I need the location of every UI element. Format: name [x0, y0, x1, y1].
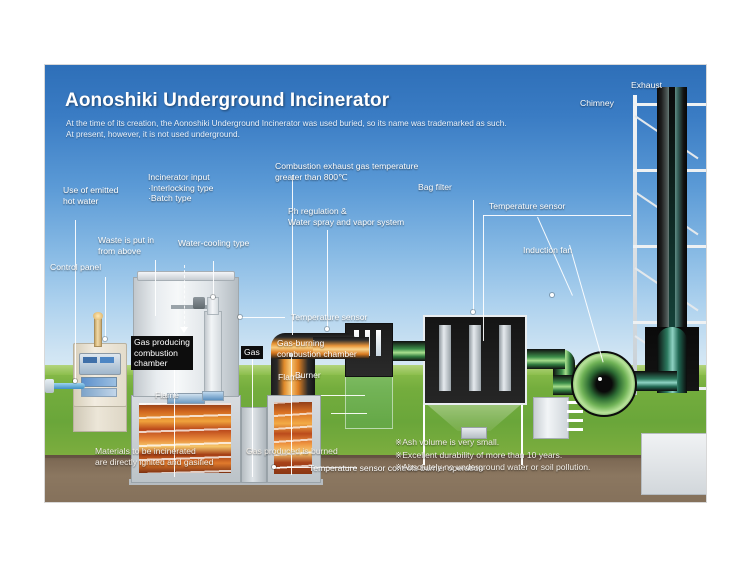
label-combustion-temp: Combustion exhaust gas temperature great…	[275, 161, 418, 182]
water-cooling-tower	[204, 311, 222, 399]
leader-dot	[598, 377, 602, 381]
footnote-bullet-2: ※Excellent durability of more than 10 ye…	[395, 450, 562, 460]
gas-transfer-column	[241, 407, 267, 483]
duct-spray-to-bagfilter	[389, 341, 425, 361]
label-gas-producing-chamber: Gas producing combustion chamber	[131, 336, 193, 370]
filter-bag	[499, 325, 511, 391]
label-induction-fan: Induction fan	[523, 245, 572, 256]
incinerator-carriage	[193, 297, 205, 309]
leader-temp-sensor-left	[241, 317, 285, 318]
leader-burner	[321, 395, 365, 396]
duct-bagfilter-to-fan	[523, 349, 565, 369]
leader-flame-left	[252, 351, 253, 477]
label-temp-sensor-left: Temperature sensor	[291, 312, 367, 323]
footnote-bullet-1: ※Ash volume is very small.	[395, 437, 499, 447]
control-panel-buttons	[81, 377, 117, 387]
subtitle-line-1: At the time of its creation, the Aonoshi…	[66, 119, 507, 128]
leader-arrow-down	[180, 327, 188, 333]
chimney-foundation	[641, 433, 706, 495]
spray-nozzle	[376, 330, 381, 356]
label-burner: Burner	[295, 370, 321, 381]
label-hot-water: Use of emitted hot water	[63, 185, 118, 206]
leader-waste	[155, 260, 156, 316]
hot-water-outlet-pipe	[49, 383, 85, 389]
bag-filter-vessel	[423, 315, 527, 405]
label-temp-sensor-right: Temperature sensor	[489, 201, 565, 212]
filter-bag	[469, 325, 481, 391]
leader-dot	[103, 337, 107, 341]
leader-incinerator-input	[184, 265, 185, 329]
filter-bag	[439, 325, 451, 391]
footnote-bullet-3: ※Absolutely no underground water or soil…	[395, 462, 590, 472]
fan-pedestal	[533, 397, 569, 439]
label-control-panel: Control panel	[50, 262, 101, 273]
leader-dot	[325, 327, 329, 331]
subtitle-line-2: At present, however, it is not used unde…	[66, 130, 240, 139]
label-gas-burning-chamber: Gas-burning combustion chamber	[277, 338, 357, 359]
label-flame-left: Flame	[155, 390, 179, 401]
label-water-cooling: Water-cooling type	[178, 238, 249, 249]
leader-dot	[238, 315, 242, 319]
leader-gas-burning	[331, 413, 367, 414]
label-waste-put-in: Waste is put in from above	[98, 235, 154, 256]
signal-tower-light	[94, 317, 102, 347]
chimney-core	[669, 87, 675, 337]
leader-dot	[211, 295, 215, 299]
leader-temp-sensor-right	[483, 215, 631, 216]
leader-control-panel	[105, 277, 106, 339]
leader-bag-filter	[473, 200, 474, 312]
incinerator-lid	[137, 271, 235, 281]
leader-dot	[471, 310, 475, 314]
leader-dot	[550, 293, 554, 297]
leader-dot	[73, 379, 77, 383]
label-gas: Gas	[241, 346, 263, 359]
label-incinerator-input: Incinerator input ·Interlocking type ·Ba…	[148, 172, 213, 204]
leader-combustion-temp	[292, 175, 293, 335]
leader-hot-water	[75, 220, 76, 380]
leader-water-cooling	[213, 261, 214, 297]
spray-vessel-lower	[345, 371, 393, 429]
label-exhaust: Exhaust	[631, 80, 662, 91]
label-bag-filter: Bag filter	[418, 182, 452, 193]
control-panel-display	[79, 353, 121, 375]
footnote-center: Gas produced is burned	[246, 446, 338, 457]
water-cooling-outlet	[202, 391, 224, 401]
label-ph-regulation: Ph regulation & Water spray and vapor sy…	[288, 206, 404, 227]
control-panel-base	[73, 405, 127, 432]
leader-dot	[272, 465, 276, 469]
incinerator-diagram: Aonoshiki Underground Incinerator At the…	[45, 65, 706, 502]
page-title: Aonoshiki Underground Incinerator	[65, 90, 389, 112]
water-cooling-stack	[207, 297, 219, 315]
footnote-left: Materials to be incineratedare directly …	[95, 446, 213, 467]
page-subtitle: At the time of its creation, the Aonoshi…	[66, 118, 507, 140]
footnote-bullets: ※Ash volume is very small.※Excellent dur…	[395, 436, 590, 474]
flame-right	[274, 402, 312, 474]
leader-temp-sensor-right-v	[483, 215, 484, 341]
control-panel-buttons-secondary	[81, 388, 117, 397]
screenshot-canvas: Aonoshiki Underground Incinerator At the…	[0, 0, 750, 563]
footnote-left-line1: Materials to be incinerated	[95, 446, 196, 456]
footnote-left-line2: are directly ignited and gasified	[95, 457, 213, 467]
label-chimney: Chimney	[580, 98, 614, 109]
